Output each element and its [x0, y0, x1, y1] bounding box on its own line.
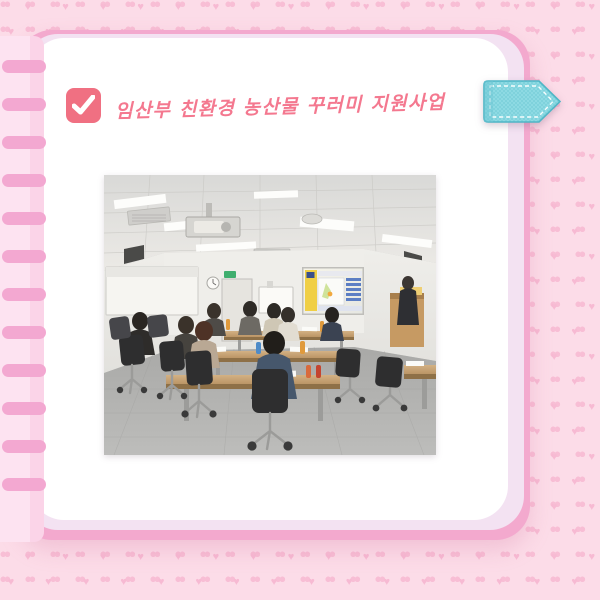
spiral-ring: [2, 288, 46, 301]
spiral-ring: [2, 364, 46, 377]
page-title: 임산부 친환경 농산물 꾸러미 지원사업: [115, 87, 446, 123]
spiral-ring: [2, 98, 46, 111]
spiral-ring: [2, 326, 46, 339]
seminar-photo: [104, 175, 436, 455]
spiral-binding: [0, 0, 70, 600]
spiral-ring: [2, 60, 46, 73]
spiral-ring: [2, 440, 46, 453]
title-row: 임산부 친환경 농산물 꾸러미 지원사업: [66, 88, 486, 123]
spiral-ring: [2, 212, 46, 225]
spiral-ring: [2, 136, 46, 149]
spiral-ring: [2, 174, 46, 187]
spiral-ring: [2, 402, 46, 415]
ribbon-tag[interactable]: [483, 80, 561, 123]
spiral-ring: [2, 478, 46, 491]
page-canvas: ♥ ♥ ♥ ♥ ♥ ♥ ♥ ♥ ♥ ♥ ♥ ♥ ♥ ♥ ♥ ♥ ♥ ♥ ♥ ♥ …: [0, 0, 600, 600]
checkbox-checked-icon: [66, 88, 101, 123]
spiral-ring: [2, 250, 46, 263]
